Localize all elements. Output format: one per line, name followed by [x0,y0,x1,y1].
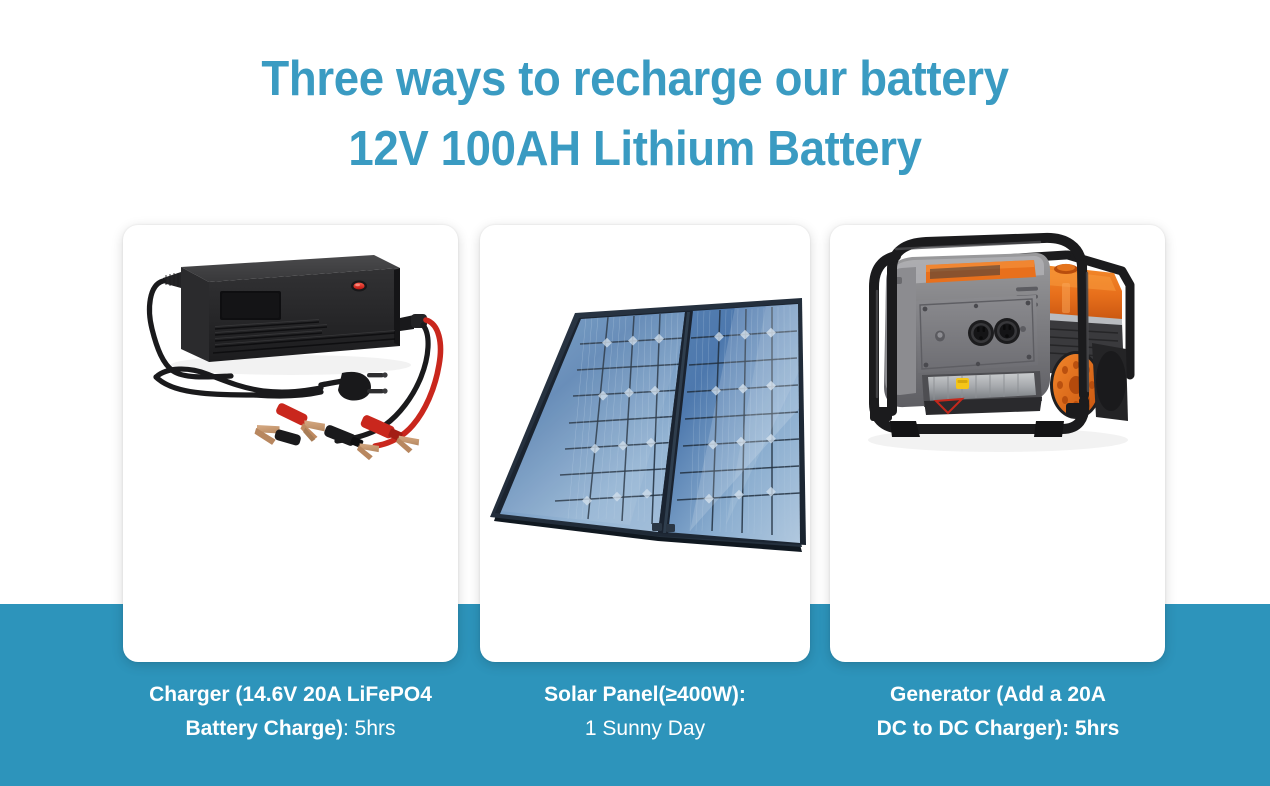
page-title-line-1: Three ways to recharge our battery [261,52,1008,106]
caption-generator-line-2: DC to DC Charger): 5hrs [818,712,1178,746]
caption-solar-panel-line-2: 1 Sunny Day [470,712,820,746]
page-title: Three ways to recharge our battery 12V 1… [44,44,1225,184]
card-solar-panel[interactable] [480,225,810,662]
battery-charger-image [123,225,458,662]
poster-canvas: Three ways to recharge our battery 12V 1… [0,0,1270,786]
page-title-line-2: 12V 100AH Lithium Battery [44,114,1225,184]
caption-solar-panel: Solar Panel(≥400W): 1 Sunny Day [470,678,820,746]
caption-generator-line-1: Generator (Add a 20A [818,678,1178,712]
caption-charger-line-2: Battery Charge): 5hrs [108,712,473,746]
card-generator[interactable] [830,225,1165,662]
caption-solar-panel-line-1: Solar Panel(≥400W): [470,678,820,712]
caption-charger-line-1: Charger (14.6V 20A LiFePO4 [108,678,473,712]
generator-image [830,225,1165,662]
card-charger[interactable] [123,225,458,662]
solar-panel-image [480,225,810,662]
caption-charger: Charger (14.6V 20A LiFePO4 Battery Charg… [108,678,473,746]
caption-generator: Generator (Add a 20A DC to DC Charger): … [818,678,1178,746]
